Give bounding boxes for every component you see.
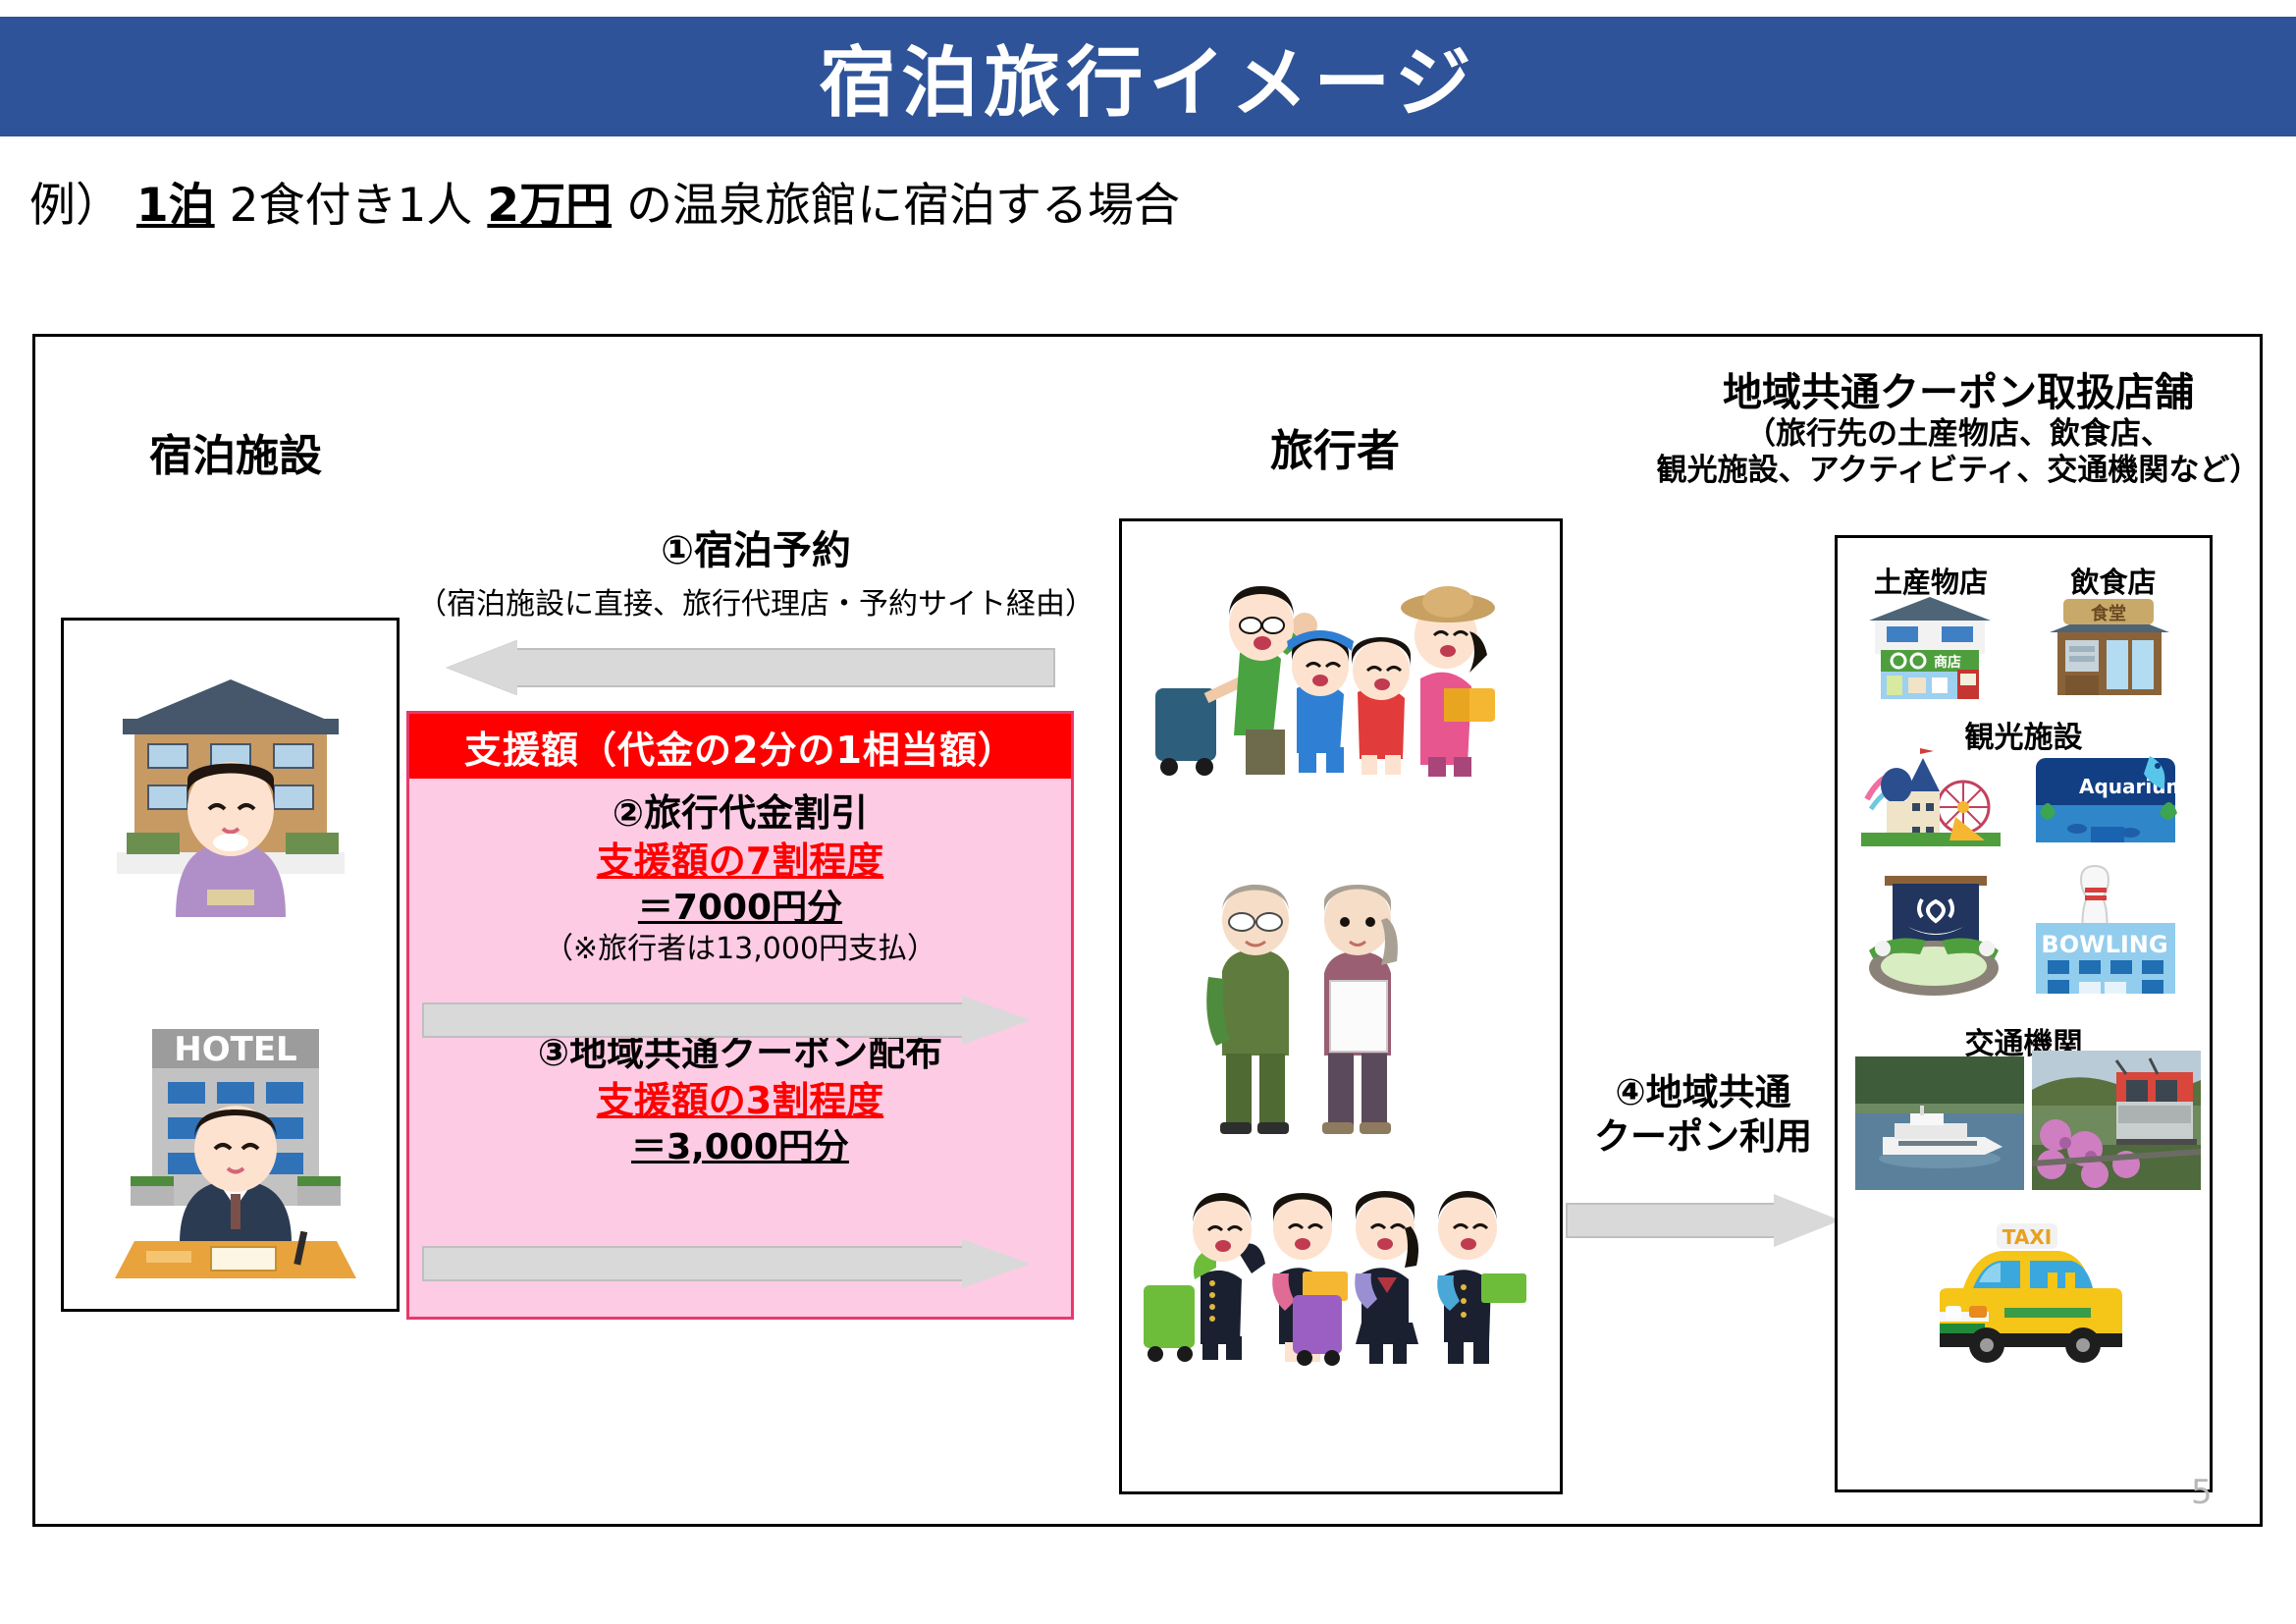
local-train-photo — [2032, 1051, 2201, 1190]
support-block-travel-discount: ②旅行代金割引 支援額の7割程度 ＝7000円分 （※旅行者は13,000円支払… — [409, 790, 1071, 967]
coupon-use-label-line2: クーポン利用 — [1594, 1115, 1812, 1158]
aquarium-sign: Aquarium — [2079, 775, 2186, 798]
example-nights: 1泊 — [136, 179, 215, 233]
column-heading-coupon-stores: 地域共通クーポン取扱店舗 （旅行先の土産物店、飲食店、 観光施設、アクティビティ… — [1629, 371, 2287, 489]
coupon-ratio: 支援額の3割程度 — [409, 1077, 1071, 1125]
arrow-head — [447, 640, 517, 695]
page-number: 5 — [2191, 1473, 2213, 1512]
support-band-title: 支援額（代金の2分の1相当額） — [409, 714, 1071, 779]
reservation-sublabel: （宿泊施設に直接、旅行代理店・予約サイト経由） — [383, 579, 1129, 623]
arrow-shaft — [506, 648, 1055, 687]
taxi-sign: TAXI — [2002, 1225, 2052, 1249]
restaurant-sign: 食堂 — [2090, 603, 2126, 624]
souvenir-shop-sign: 商店 — [1934, 654, 1961, 671]
title-banner: 宿泊旅行イメージ — [0, 17, 2296, 136]
arrow-left-icon-reservation — [447, 640, 1055, 695]
example-prefix: 例） — [29, 179, 122, 233]
aquarium-icon: Aquarium — [2032, 748, 2179, 846]
coupon-use-label-line1: ④地域共通 — [1615, 1071, 1790, 1113]
panel-traveler — [1119, 518, 1563, 1494]
arrow-right-icon-discount-flow — [422, 996, 1031, 1045]
theme-park-icon — [1861, 748, 2001, 846]
senior-couple-travelers-illustration — [1202, 875, 1468, 1140]
coupon-stores-sub1: （旅行先の土産物店、飲食店、 — [1629, 417, 2287, 453]
flow-label-coupon-use: ④地域共通 クーポン利用 — [1571, 1070, 1836, 1159]
sightseeing-boat-photo — [1855, 1056, 2024, 1190]
arrow-head — [1774, 1194, 1841, 1247]
coupon-stores-sub2: 観光施設、アクティビティ、交通機関など） — [1629, 454, 2287, 489]
example-caption: 例） 1泊 2食付き1人 2万円 の温泉旅館に宿泊する場合 — [29, 167, 1180, 235]
student-travelers-illustration — [1140, 1169, 1544, 1366]
ryokan-with-hostess-illustration — [93, 660, 368, 925]
hot-spring-icon — [1861, 870, 2006, 1000]
arrow-head — [962, 996, 1031, 1045]
family-travelers-illustration — [1149, 572, 1542, 779]
bowling-alley-icon: BOWLING — [2034, 862, 2177, 1000]
discount-amount: ＝7000円分 — [409, 886, 1071, 931]
bowling-sign: BOWLING — [2041, 931, 2167, 958]
svg-text:HOTEL: HOTEL — [174, 1030, 296, 1069]
discount-note: （※旅行者は13,000円支払） — [409, 931, 1071, 968]
hotel-with-clerk-illustration: HOTEL — [95, 984, 370, 1278]
souvenir-shop-icon: 商店 — [1865, 595, 1995, 701]
arrow-shaft — [1566, 1203, 1777, 1238]
arrow-right-icon-coupon-flow — [422, 1239, 1031, 1288]
coupon-amount: ＝3,000円分 — [409, 1125, 1071, 1170]
panel-coupon-stores: 土産物店 飲食店 商店 — [1835, 535, 2213, 1492]
discount-title: ②旅行代金割引 — [409, 790, 1071, 838]
example-middle: 2食付き1人 — [230, 179, 473, 233]
slide-canvas: 宿泊旅行イメージ 例） 1泊 2食付き1人 2万円 の温泉旅館に宿泊する場合 宿… — [0, 0, 2296, 1624]
arrow-right-icon-coupon-use — [1566, 1194, 1841, 1247]
reservation-label: ①宿泊予約 — [383, 518, 1129, 575]
arrow-head — [962, 1239, 1031, 1288]
example-tail: の温泉旅館に宿泊する場合 — [626, 179, 1180, 233]
coupon-stores-title: 地域共通クーポン取扱店舗 — [1723, 370, 2194, 415]
example-price: 2万円 — [487, 179, 612, 233]
taxi-icon: TAXI — [1910, 1218, 2142, 1361]
discount-ratio: 支援額の7割程度 — [409, 838, 1071, 886]
page-title: 宿泊旅行イメージ — [0, 22, 2296, 132]
column-heading-lodging: 宿泊施設 — [54, 432, 417, 480]
restaurant-icon: 食堂 — [2046, 595, 2173, 701]
arrow-shaft — [422, 1246, 962, 1281]
support-block-coupon-distribution: ③地域共通クーポン配布 支援額の3割程度 ＝3,000円分 — [409, 1030, 1071, 1170]
panel-lodging-facility: HOTEL — [61, 618, 400, 1312]
column-heading-traveler: 旅行者 — [1173, 427, 1497, 475]
arrow-shaft — [422, 1002, 962, 1038]
flow-label-reservation: ①宿泊予約 （宿泊施設に直接、旅行代理店・予約サイト経由） — [383, 518, 1129, 623]
